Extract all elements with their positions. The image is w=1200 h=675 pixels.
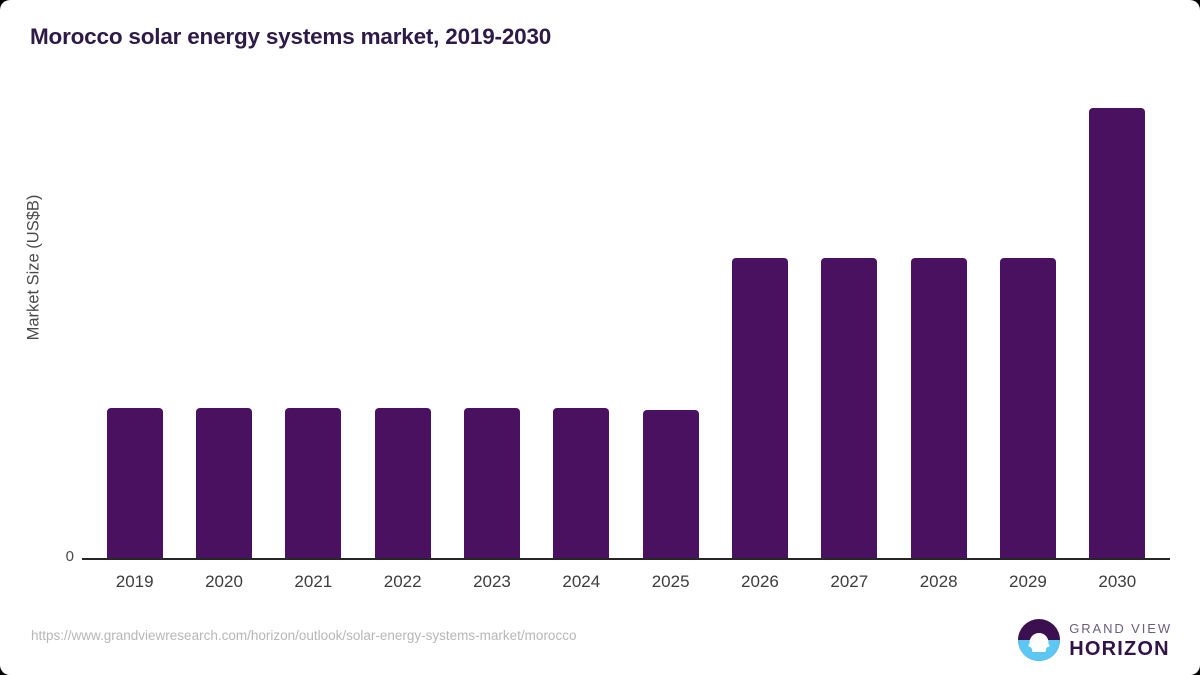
x-axis-tick-2030: 2030 xyxy=(1073,572,1162,592)
bar-2021[interactable] xyxy=(285,408,341,558)
bar-slot xyxy=(894,70,983,558)
bar-2028[interactable] xyxy=(911,258,967,558)
bar-2027[interactable] xyxy=(821,258,877,558)
x-axis-tick-2026: 2026 xyxy=(715,572,804,592)
bar-2023[interactable] xyxy=(464,408,520,558)
x-axis-tick-2024: 2024 xyxy=(537,572,626,592)
chart-canvas: Morocco solar energy systems market, 201… xyxy=(0,0,1200,675)
y-axis-tick-0: 0 xyxy=(58,548,74,565)
bar-slot xyxy=(983,70,1072,558)
logo-ray-short xyxy=(1032,649,1046,652)
bar-slot xyxy=(269,70,358,558)
x-axis-tick-2022: 2022 xyxy=(358,572,447,592)
y-axis-title-label: Market Size (US$B) xyxy=(25,194,44,340)
bar-2022[interactable] xyxy=(375,408,431,558)
horizon-sun-icon xyxy=(1018,619,1060,661)
bar-slot xyxy=(537,70,626,558)
bar-slot xyxy=(90,70,179,558)
x-axis-labels: 2019202020212022202320242025202620272028… xyxy=(82,572,1170,592)
bar-2026[interactable] xyxy=(732,258,788,558)
bar-2019[interactable] xyxy=(107,408,163,558)
x-axis-tick-2029: 2029 xyxy=(983,572,1072,592)
logo-bottom-text: HORIZON xyxy=(1069,639,1172,659)
x-axis-tick-2020: 2020 xyxy=(179,572,268,592)
bar-slot xyxy=(805,70,894,558)
y-axis-title: Market Size (US$B) xyxy=(22,70,46,560)
bar-2030[interactable] xyxy=(1089,108,1145,558)
x-axis-tick-2019: 2019 xyxy=(90,572,179,592)
bar-2025[interactable] xyxy=(643,410,699,558)
grand-view-horizon-logo: GRAND VIEW HORIZON xyxy=(1018,619,1172,661)
x-axis-tick-2021: 2021 xyxy=(269,572,358,592)
logo-wordmark: GRAND VIEW HORIZON xyxy=(1069,622,1172,659)
bar-slot xyxy=(447,70,536,558)
bar-slot xyxy=(1073,70,1162,558)
source-url[interactable]: https://www.grandviewresearch.com/horizo… xyxy=(31,628,576,643)
x-axis-tick-2025: 2025 xyxy=(626,572,715,592)
x-axis-tick-2023: 2023 xyxy=(447,572,536,592)
bars-layer xyxy=(82,70,1170,558)
plot-area xyxy=(82,70,1170,560)
x-axis-tick-2028: 2028 xyxy=(894,572,983,592)
bar-slot xyxy=(715,70,804,558)
bar-slot xyxy=(179,70,268,558)
logo-ray-long xyxy=(1029,644,1050,647)
page-title: Morocco solar energy systems market, 201… xyxy=(30,24,551,50)
x-axis-tick-2027: 2027 xyxy=(805,572,894,592)
bar-2024[interactable] xyxy=(553,408,609,558)
bar-slot xyxy=(358,70,447,558)
bar-slot xyxy=(626,70,715,558)
logo-top-text: GRAND VIEW xyxy=(1069,622,1172,635)
bar-2029[interactable] xyxy=(1000,258,1056,558)
bar-2020[interactable] xyxy=(196,408,252,558)
x-axis-line xyxy=(82,558,1170,560)
